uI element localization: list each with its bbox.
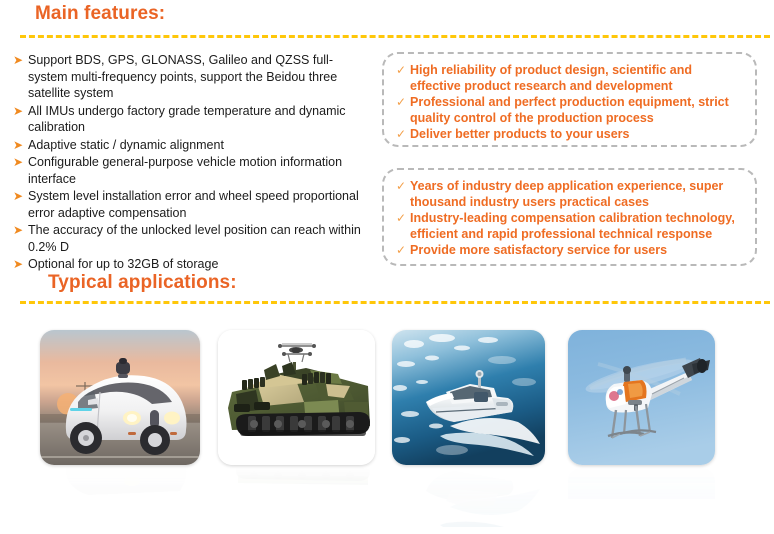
callout-text: Deliver better products to your users bbox=[410, 126, 743, 142]
check-icon: ✓ bbox=[392, 242, 410, 258]
list-item: ✓ Professional and perfect production eq… bbox=[392, 94, 743, 126]
feature-text: Support BDS, GPS, GLONASS, Galileo and Q… bbox=[28, 52, 370, 102]
list-item: ➤ The accuracy of the unlocked level pos… bbox=[8, 222, 370, 255]
self-driving-car-illustration bbox=[40, 330, 200, 465]
list-item: ➤ Optional for up to 32GB of storage bbox=[8, 256, 370, 273]
check-icon: ✓ bbox=[392, 178, 410, 194]
marketing-slide: Main features: ➤ Support BDS, GPS, GLONA… bbox=[0, 0, 774, 534]
list-item: ➤ Support BDS, GPS, GLONASS, Galileo and… bbox=[8, 52, 370, 102]
feature-text: All IMUs undergo factory grade temperatu… bbox=[28, 103, 370, 136]
list-item: ➤ System level installation error and wh… bbox=[8, 188, 370, 221]
check-icon: ✓ bbox=[392, 126, 410, 142]
callout-text: Professional and perfect production equi… bbox=[410, 94, 743, 126]
bullet-arrow-icon: ➤ bbox=[8, 103, 28, 120]
feature-text: The accuracy of the unlocked level posit… bbox=[28, 222, 370, 255]
list-item: ➤ All IMUs undergo factory grade tempera… bbox=[8, 103, 370, 136]
helicopter-illustration bbox=[568, 330, 715, 465]
self-driving-car-image bbox=[40, 330, 200, 465]
application-photo-self-driving-car bbox=[40, 330, 200, 527]
list-item: ➤ Configurable general-purpose vehicle m… bbox=[8, 154, 370, 187]
application-photo-military-vehicle bbox=[218, 330, 375, 527]
bullet-arrow-icon: ➤ bbox=[8, 188, 28, 205]
helicopter-reflection bbox=[568, 467, 715, 527]
bullet-arrow-icon: ➤ bbox=[8, 52, 28, 69]
check-icon: ✓ bbox=[392, 94, 410, 110]
main-features-list: ➤ Support BDS, GPS, GLONASS, Galileo and… bbox=[8, 52, 370, 274]
military-vehicle-reflection bbox=[218, 467, 375, 527]
list-item: ➤ Adaptive static / dynamic alignment bbox=[8, 137, 370, 154]
military-vehicle-image bbox=[218, 330, 375, 465]
list-item: ✓ Provide more satisfactory service for … bbox=[392, 242, 743, 258]
feature-text: Optional for up to 32GB of storage bbox=[28, 256, 370, 273]
application-photo-unmanned-boat bbox=[392, 330, 545, 527]
unmanned-boat-reflection bbox=[392, 467, 545, 527]
list-item: ✓ Years of industry deep application exp… bbox=[392, 178, 743, 210]
list-item: ✓ Industry-leading compensation calibrat… bbox=[392, 210, 743, 242]
callout-box-experience: ✓ Years of industry deep application exp… bbox=[382, 168, 757, 266]
bullet-arrow-icon: ➤ bbox=[8, 256, 28, 273]
list-item: ✓ High reliability of product design, sc… bbox=[392, 62, 743, 94]
list-item: ✓ Deliver better products to your users bbox=[392, 126, 743, 142]
check-icon: ✓ bbox=[392, 62, 410, 78]
application-photo-helicopter bbox=[568, 330, 715, 527]
divider-rule-bottom bbox=[20, 301, 770, 304]
unmanned-boat-image bbox=[392, 330, 545, 465]
check-icon: ✓ bbox=[392, 210, 410, 226]
callout-text: Provide more satisfactory service for us… bbox=[410, 242, 743, 258]
page-title-typical-applications: Typical applications: bbox=[48, 272, 237, 294]
self-driving-car-reflection bbox=[40, 467, 200, 527]
application-photo-strip bbox=[0, 318, 774, 534]
unmanned-boat-illustration bbox=[392, 330, 545, 465]
callout-box-quality: ✓ High reliability of product design, sc… bbox=[382, 52, 757, 147]
military-vehicle-illustration bbox=[218, 330, 375, 465]
bullet-arrow-icon: ➤ bbox=[8, 137, 28, 154]
page-title-main-features: Main features: bbox=[35, 3, 165, 25]
callout-text: Industry-leading compensation calibratio… bbox=[410, 210, 743, 242]
helicopter-image bbox=[568, 330, 715, 465]
callout-text: High reliability of product design, scie… bbox=[410, 62, 743, 94]
divider-rule-top bbox=[20, 35, 770, 38]
feature-text: System level installation error and whee… bbox=[28, 188, 370, 221]
bullet-arrow-icon: ➤ bbox=[8, 222, 28, 239]
feature-text: Configurable general-purpose vehicle mot… bbox=[28, 154, 370, 187]
feature-text: Adaptive static / dynamic alignment bbox=[28, 137, 370, 154]
callout-text: Years of industry deep application exper… bbox=[410, 178, 743, 210]
bullet-arrow-icon: ➤ bbox=[8, 154, 28, 171]
